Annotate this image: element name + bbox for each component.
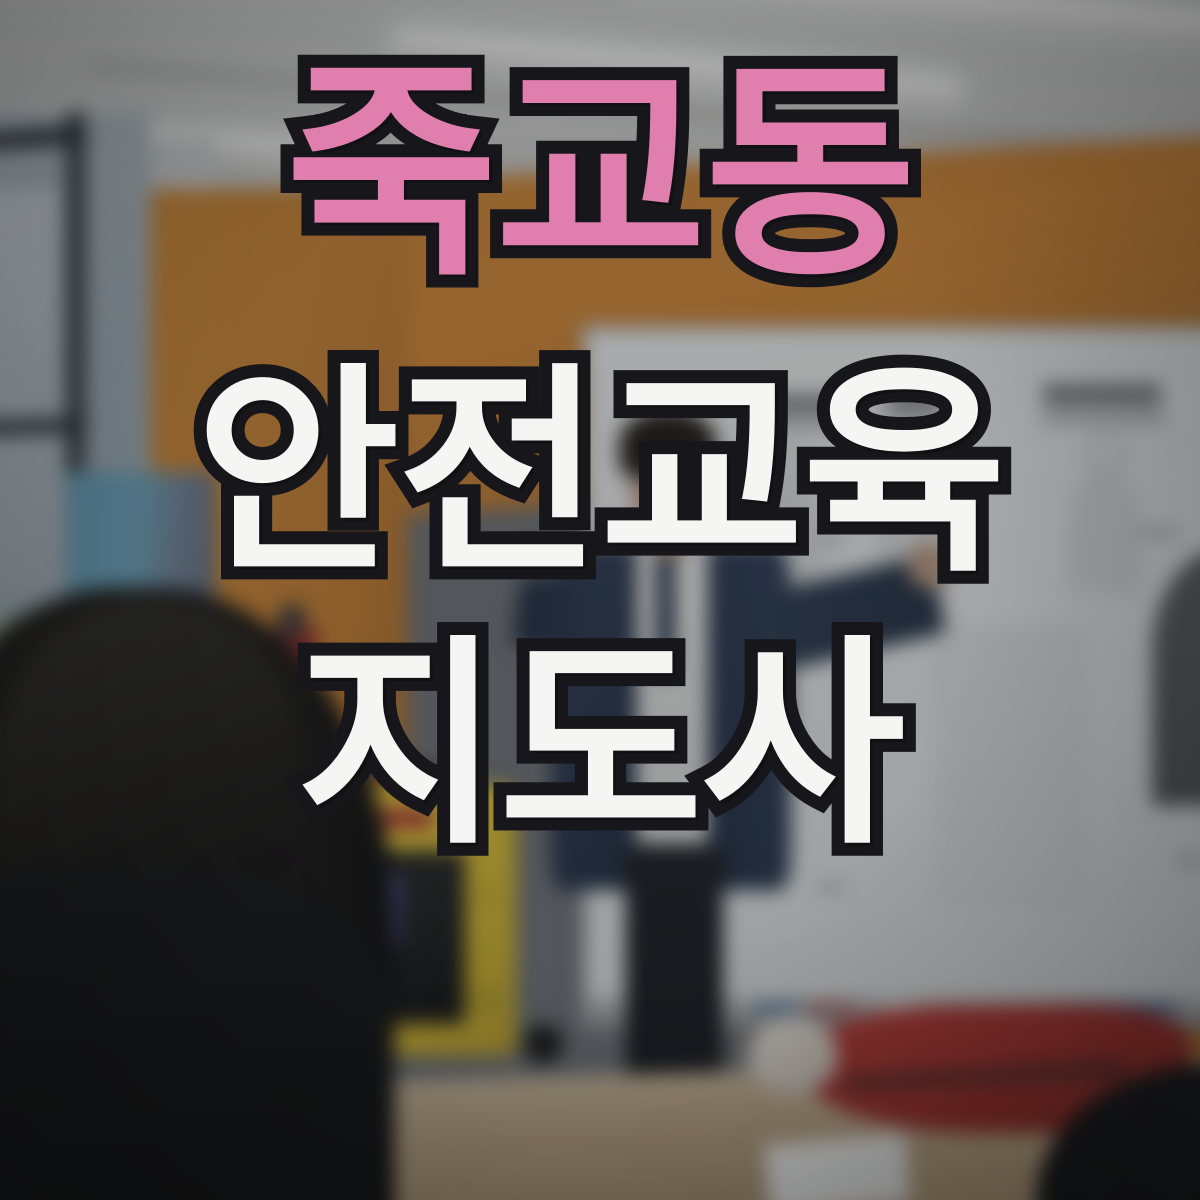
title-line-credential: 지도사 [297, 633, 904, 859]
title-line-district: 죽교동 [286, 58, 915, 293]
title-line-program: 안전교육 [196, 361, 1005, 587]
title-text-stack: 죽교동 안전교육 지도사 [0, 0, 1200, 1200]
poster-canvas: 죽교동 안전교육 지도사 [0, 0, 1200, 1200]
